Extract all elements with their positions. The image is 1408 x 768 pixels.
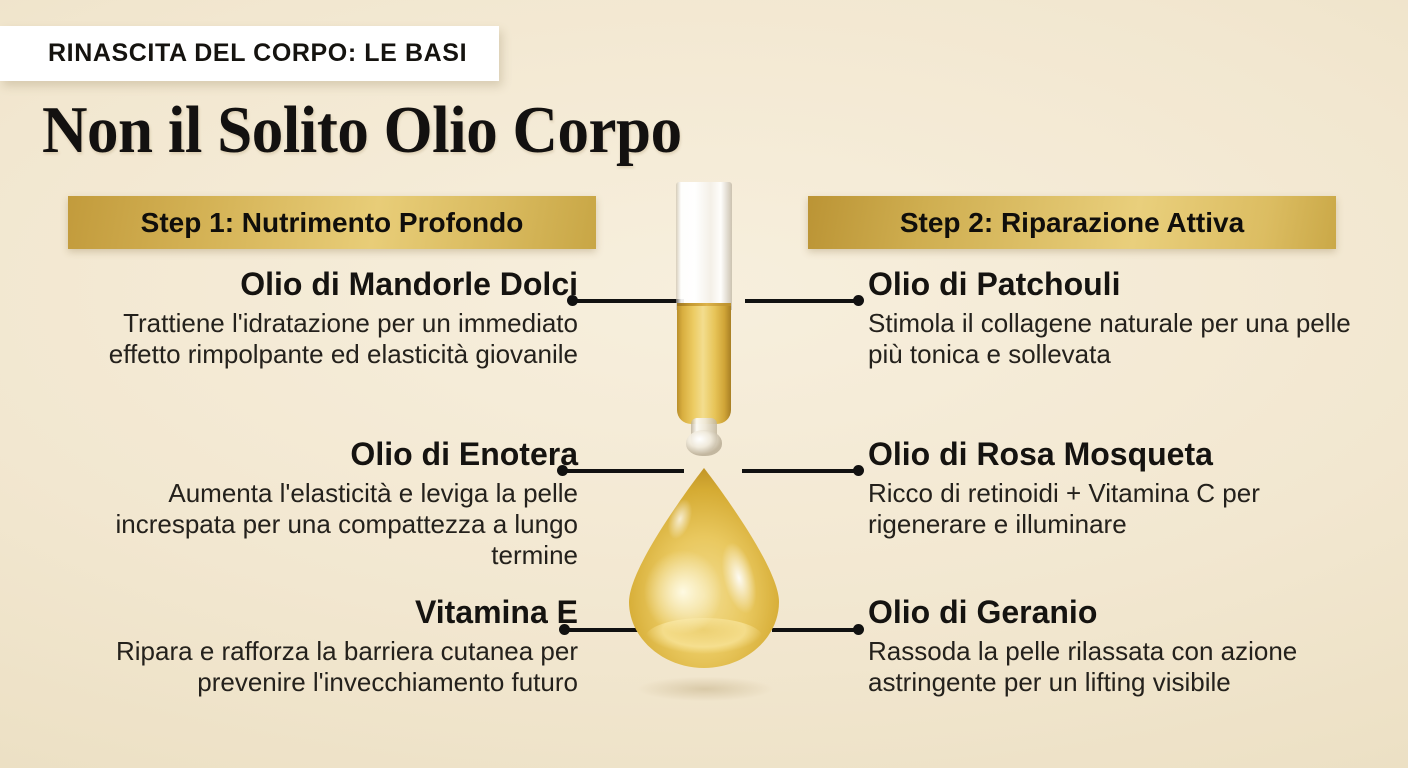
oil-dropper-icon	[672, 182, 736, 450]
left-item-3: Vitamina E Ripara e rafforza la barriera…	[68, 596, 578, 698]
droplet-shadow	[610, 672, 800, 706]
connector-dot-icon	[853, 624, 864, 635]
page-title: Non il Solito Olio Corpo	[42, 95, 682, 165]
connector-left-1	[567, 292, 684, 308]
left-item-2-description: Aumenta l'elasticità e leviga la pelle i…	[68, 478, 578, 572]
left-item-1-title: Olio di Mandorle Dolci	[68, 268, 578, 302]
connector-line	[574, 299, 684, 303]
golden-oil-droplet-icon	[629, 468, 779, 668]
left-item-2: Olio di Enotera Aumenta l'elasticità e l…	[68, 438, 578, 571]
left-item-1-description: Trattiene l'idratazione per un immediato…	[68, 308, 578, 370]
connector-right-1	[745, 292, 864, 308]
right-item-2-description: Ricco di retinoidi + Vitamina C per rige…	[868, 478, 1378, 540]
right-item-2-title: Olio di Rosa Mosqueta	[868, 438, 1378, 472]
left-item-1: Olio di Mandorle Dolci Trattiene l'idrat…	[68, 268, 578, 370]
step-2-label: Step 2: Riparazione Attiva	[808, 207, 1336, 239]
right-item-2: Olio di Rosa Mosqueta Ricco di retinoidi…	[868, 438, 1378, 540]
right-item-3: Olio di Geranio Rassoda la pelle rilassa…	[868, 596, 1378, 698]
kicker-banner: RINASCITA DEL CORPO: LE BASI	[0, 26, 499, 81]
connector-line	[772, 628, 857, 632]
step-2-banner: Step 2: Riparazione Attiva	[808, 196, 1336, 249]
droplet-rim-light	[645, 618, 763, 658]
step-1-banner: Step 1: Nutrimento Profondo	[68, 196, 596, 249]
kicker-text: RINASCITA DEL CORPO: LE BASI	[48, 39, 467, 68]
dropper-tip-bulb	[686, 430, 722, 456]
left-item-2-title: Olio di Enotera	[68, 438, 578, 472]
right-item-1: Olio di Patchouli Stimola il collagene n…	[868, 268, 1378, 370]
right-item-3-title: Olio di Geranio	[868, 596, 1378, 630]
right-item-3-description: Rassoda la pelle rilassata con azione as…	[868, 636, 1378, 698]
right-item-1-description: Stimola il collagene naturale per una pe…	[868, 308, 1378, 370]
left-item-3-title: Vitamina E	[68, 596, 578, 630]
step-1-label: Step 1: Nutrimento Profondo	[68, 207, 596, 239]
connector-line	[745, 299, 857, 303]
connector-dot-icon	[853, 295, 864, 306]
dropper-oil-fill	[677, 306, 731, 424]
connector-dot-icon	[853, 465, 864, 476]
right-item-1-title: Olio di Patchouli	[868, 268, 1378, 302]
connector-right-3	[772, 621, 864, 637]
dropper-glass-tube	[676, 182, 732, 310]
infographic-canvas: RINASCITA DEL CORPO: LE BASI Non il Soli…	[0, 0, 1408, 768]
left-item-3-description: Ripara e rafforza la barriera cutanea pe…	[68, 636, 578, 698]
